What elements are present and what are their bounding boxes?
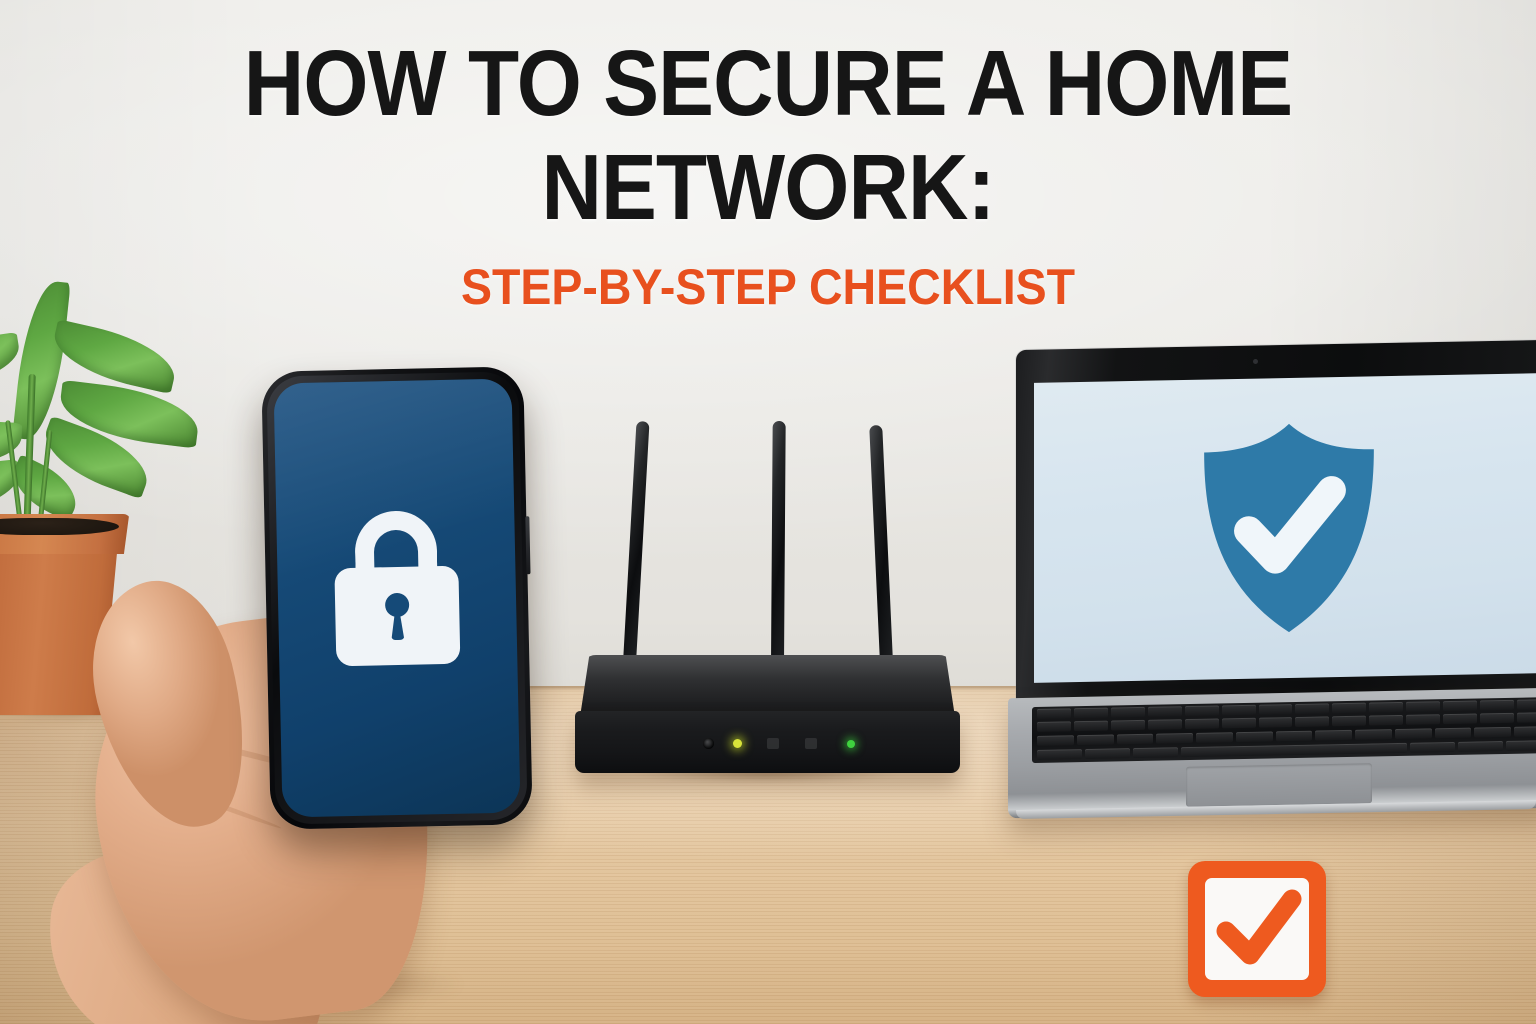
router-wifi-icon	[805, 738, 817, 749]
keyboard-key[interactable]	[1259, 717, 1293, 728]
keyboard-key[interactable]	[1196, 732, 1233, 743]
keyboard-key[interactable]	[1185, 718, 1219, 729]
keyboard-key[interactable]	[1332, 703, 1366, 714]
keyboard-key[interactable]	[1435, 728, 1472, 739]
phone-screen[interactable]	[273, 379, 520, 818]
keyboard-key[interactable]	[1315, 730, 1352, 741]
keyboard-key[interactable]	[1259, 704, 1293, 715]
keyboard-key[interactable]	[1410, 742, 1455, 753]
keyboard-key[interactable]	[1037, 721, 1071, 732]
keyboard-key[interactable]	[1037, 749, 1082, 760]
laptop-webcam	[1253, 359, 1258, 364]
poster-canvas: HOW TO SECURE A HOME NETWORK: STEP-BY-ST…	[0, 0, 1536, 1024]
page-subtitle: STEP-BY-STEP CHECKLIST	[54, 262, 1482, 312]
keyboard-key[interactable]	[1111, 707, 1145, 718]
checkbox-badge[interactable]	[1188, 861, 1326, 997]
laptop-keyboard[interactable]	[1032, 697, 1536, 763]
router-antenna-left	[623, 421, 649, 663]
keyboard-key[interactable]	[1148, 706, 1182, 717]
laptop-trackpad[interactable]	[1186, 763, 1372, 807]
keyboard-key[interactable]	[1111, 720, 1145, 731]
keyboard-key[interactable]	[1474, 727, 1511, 738]
keyboard-key[interactable]	[1506, 740, 1536, 751]
keyboard-key[interactable]	[1133, 747, 1178, 758]
keyboard-key[interactable]	[1156, 733, 1193, 744]
keyboard-key[interactable]	[1085, 748, 1130, 759]
keyboard-key[interactable]	[1222, 718, 1256, 729]
keyboard-key[interactable]	[1295, 703, 1329, 714]
keyboard-key[interactable]	[1443, 713, 1477, 724]
keyboard-key[interactable]	[1185, 705, 1219, 716]
keyboard-key[interactable]	[1236, 731, 1273, 742]
shield-check-icon	[1191, 418, 1387, 638]
keyboard-key[interactable]	[1074, 708, 1108, 719]
keyboard-key[interactable]	[1443, 700, 1477, 711]
keyboard-key[interactable]	[1332, 716, 1366, 727]
router-antenna-right	[869, 425, 893, 663]
router-front-panel	[575, 711, 960, 773]
wifi-router	[575, 405, 970, 795]
router-internet-led	[847, 740, 855, 748]
keyboard-key[interactable]	[1037, 735, 1074, 746]
laptop-screen[interactable]	[1034, 373, 1536, 683]
keyboard-key[interactable]	[1406, 701, 1440, 712]
keyboard-key[interactable]	[1117, 734, 1154, 745]
router-antenna-center	[771, 421, 786, 663]
keyboard-key[interactable]	[1517, 712, 1536, 723]
keyboard-key[interactable]	[1369, 702, 1403, 713]
page-title-line-1: HOW TO SECURE A HOME	[77, 42, 1459, 124]
router-wan-icon	[767, 738, 779, 749]
router-top-sheen	[580, 655, 955, 717]
keyboard-key[interactable]	[1295, 716, 1329, 727]
keyboard-key[interactable]	[1222, 705, 1256, 716]
keyboard-key[interactable]	[1480, 713, 1514, 724]
keyboard-key[interactable]	[1276, 731, 1313, 742]
smartphone[interactable]	[261, 366, 533, 829]
phone-screen-glare	[273, 379, 515, 584]
checkmark-icon	[1188, 861, 1326, 997]
page-title-line-2: NETWORK:	[77, 146, 1459, 228]
router-reset-port[interactable]	[703, 738, 714, 749]
laptop	[1008, 345, 1536, 825]
keyboard-key[interactable]	[1480, 700, 1514, 711]
router-top-surface	[580, 655, 955, 717]
keyboard-key[interactable]	[1355, 729, 1392, 740]
shield-check-svg	[1191, 418, 1387, 638]
router-power-led	[733, 739, 742, 748]
keyboard-key[interactable]	[1077, 734, 1114, 745]
keyboard-key[interactable]	[1458, 741, 1503, 752]
spacebar-key[interactable]	[1181, 743, 1406, 757]
keyboard-key[interactable]	[1369, 715, 1403, 726]
keyboard-key[interactable]	[1148, 719, 1182, 730]
padlock-keyhole	[385, 593, 409, 617]
keyboard-key[interactable]	[1517, 699, 1536, 710]
keyboard-key[interactable]	[1074, 721, 1108, 732]
poster-heading-block: HOW TO SECURE A HOME NETWORK: STEP-BY-ST…	[0, 42, 1536, 312]
keyboard-key[interactable]	[1037, 708, 1071, 719]
keyboard-key[interactable]	[1514, 726, 1536, 737]
keyboard-key[interactable]	[1406, 714, 1440, 725]
keyboard-key[interactable]	[1395, 728, 1432, 739]
